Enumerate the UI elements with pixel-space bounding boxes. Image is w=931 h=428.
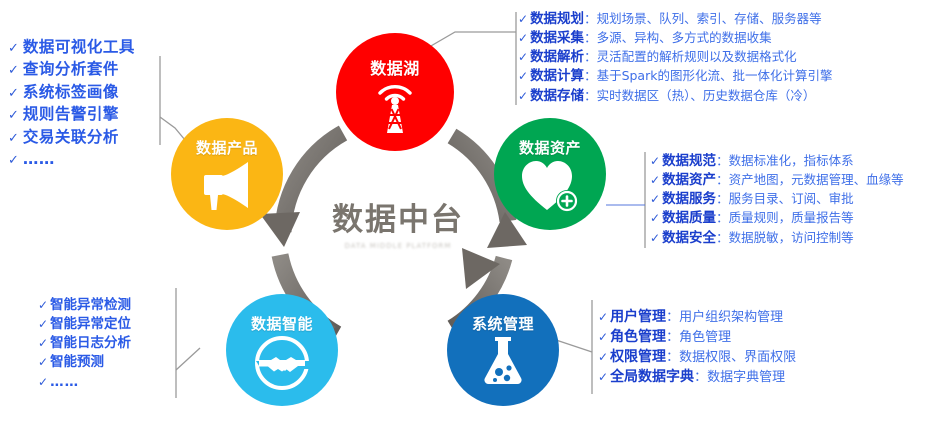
annotation-item: ✓查询分析套件 [8, 58, 135, 80]
annotation-term: 数据解析 [530, 48, 584, 67]
annotation-desc: ：数据脱敏，访问控制等 [716, 229, 854, 247]
annotation-item: ✓数据规划：规划场景、队列、索引、存储、服务器等 [518, 10, 832, 29]
annotation-item: ✓数据可视化工具 [8, 36, 135, 58]
node-data-asset-label: 数据资产 [519, 137, 581, 158]
check-icon: ✓ [650, 172, 660, 189]
check-icon: ✓ [38, 335, 48, 352]
annotation-item: ✓权限管理：数据权限、界面权限 [598, 348, 796, 368]
diagram-canvas: 数据中台 DATA MIDDLE PLATFORM 数据湖 [0, 0, 931, 428]
annotation-item: ✓智能异常定位 [38, 315, 131, 334]
check-icon: ✓ [598, 349, 608, 366]
check-icon: ✓ [518, 30, 528, 47]
heart-plus-icon [519, 158, 581, 214]
annotation-item: ✓智能日志分析 [38, 334, 131, 353]
annotation-block-data-product: ✓数据可视化工具✓查询分析套件✓系统标签画像✓规则告警引擎✓交易关联分析✓…… [8, 36, 135, 171]
annotation-term: 查询分析套件 [23, 58, 119, 80]
annotation-desc: ：实时数据区（热）、历史数据仓库（冷） [584, 87, 815, 105]
node-data-asset[interactable]: 数据资产 [494, 118, 606, 230]
annotation-term: 数据服务 [662, 190, 716, 209]
check-icon: ✓ [8, 40, 19, 58]
check-icon: ✓ [518, 68, 528, 85]
broadcast-tower-icon [368, 79, 422, 135]
check-icon: ✓ [38, 316, 48, 333]
annotation-term: 数据规划 [530, 10, 584, 29]
node-data-product[interactable]: 数据产品 [171, 118, 283, 230]
annotation-term: 数据存储 [530, 87, 584, 106]
annotation-item: ✓数据质量：质量规则，质量报告等 [650, 209, 904, 228]
annotation-term: 智能异常定位 [50, 315, 131, 334]
flask-icon [477, 334, 529, 388]
annotation-item: ✓数据规范：数据标准化，指标体系 [650, 152, 904, 171]
annotation-term: 数据计算 [530, 67, 584, 86]
annotation-term: 数据资产 [662, 171, 716, 190]
center-subtitle: DATA MIDDLE PLATFORM [300, 242, 496, 250]
annotation-item: ✓智能异常检测 [38, 296, 131, 315]
handshake-icon [253, 334, 311, 392]
annotation-desc: ：数据标准化，指标体系 [716, 152, 854, 170]
annotation-term: 规则告警引擎 [23, 103, 119, 125]
annotation-item: ✓规则告警引擎 [8, 103, 135, 125]
annotation-term: 角色管理 [610, 328, 666, 348]
check-icon: ✓ [518, 11, 528, 28]
check-icon: ✓ [38, 374, 48, 391]
node-system-management[interactable]: 系统管理 [447, 294, 559, 406]
node-data-lake[interactable]: 数据湖 [336, 33, 454, 151]
annotation-term: 系统标签画像 [23, 81, 119, 103]
annotation-block-data-intelligence: ✓智能异常检测✓智能异常定位✓智能日志分析✓智能预测✓…… [38, 296, 131, 392]
annotation-term: 全局数据字典 [610, 368, 694, 388]
check-icon: ✓ [8, 85, 19, 103]
annotation-item: ✓用户管理：用户组织架构管理 [598, 308, 796, 328]
annotation-block-data-asset: ✓数据规范：数据标准化，指标体系✓数据资产：资产地图，元数据管理、血缘等✓数据服… [650, 152, 904, 248]
check-icon: ✓ [38, 297, 48, 314]
annotation-term: 用户管理 [610, 308, 666, 328]
check-icon: ✓ [8, 152, 19, 170]
check-icon: ✓ [598, 329, 608, 346]
annotation-item: ✓数据解析：灵活配置的解析规则以及数据格式化 [518, 48, 832, 67]
annotation-term: 数据可视化工具 [23, 36, 135, 58]
annotation-block-system-management: ✓用户管理：用户组织架构管理✓角色管理：角色管理✓权限管理：数据权限、界面权限✓… [598, 308, 796, 388]
node-data-product-label: 数据产品 [196, 137, 258, 158]
annotation-term: 数据规范 [662, 152, 716, 171]
check-icon: ✓ [518, 88, 528, 105]
center-title: 数据中台 [300, 205, 496, 236]
annotation-item: ✓…… [8, 148, 135, 170]
annotation-item: ✓智能预测 [38, 353, 131, 372]
annotation-desc: ：资产地图，元数据管理、血缘等 [716, 171, 904, 189]
annotation-block-data-lake: ✓数据规划：规划场景、队列、索引、存储、服务器等✓数据采集：多源、异构、多方式的… [518, 10, 832, 106]
annotation-desc: ：基于Spark的图形化流、批一体化计算引擎 [584, 67, 832, 85]
check-icon: ✓ [518, 49, 528, 66]
annotation-item: ✓交易关联分析 [8, 126, 135, 148]
node-system-management-label: 系统管理 [472, 313, 534, 334]
annotation-item: ✓角色管理：角色管理 [598, 328, 796, 348]
annotation-term: 智能日志分析 [50, 334, 131, 353]
annotation-term: 权限管理 [610, 348, 666, 368]
annotation-item: ✓数据安全：数据脱敏，访问控制等 [650, 229, 904, 248]
check-icon: ✓ [38, 354, 48, 371]
annotation-item: ✓数据存储：实时数据区（热）、历史数据仓库（冷） [518, 87, 832, 106]
megaphone-icon [196, 158, 258, 212]
node-data-intelligence-label: 数据智能 [251, 313, 313, 334]
annotation-desc: ：质量规则，质量报告等 [716, 209, 854, 227]
center-caption: 数据中台 DATA MIDDLE PLATFORM [300, 205, 496, 250]
annotation-desc: ：角色管理 [666, 329, 731, 347]
annotation-item: ✓全局数据字典：数据字典管理 [598, 368, 796, 388]
annotation-item: ✓数据服务：服务目录、订阅、审批 [650, 190, 904, 209]
annotation-term: 智能异常检测 [50, 296, 131, 315]
annotation-item: ✓数据资产：资产地图，元数据管理、血缘等 [650, 171, 904, 190]
check-icon: ✓ [8, 107, 19, 125]
annotation-desc: ：多源、异构、多方式的数据收集 [584, 29, 772, 47]
check-icon: ✓ [650, 230, 660, 247]
check-icon: ✓ [8, 62, 19, 80]
annotation-desc: ：灵活配置的解析规则以及数据格式化 [584, 48, 797, 66]
annotation-term: 数据采集 [530, 29, 584, 48]
check-icon: ✓ [650, 191, 660, 208]
annotation-term: 数据安全 [662, 229, 716, 248]
annotation-term: 数据质量 [662, 209, 716, 228]
annotation-item: ✓…… [38, 373, 131, 392]
annotation-desc: ：用户组织架构管理 [666, 309, 783, 327]
annotation-desc: ：数据权限、界面权限 [666, 349, 796, 367]
annotation-desc: ：服务目录、订阅、审批 [716, 190, 854, 208]
check-icon: ✓ [650, 210, 660, 227]
annotation-desc: ：规划场景、队列、索引、存储、服务器等 [584, 10, 822, 28]
annotation-term: 交易关联分析 [23, 126, 119, 148]
annotation-term: 智能预测 [50, 353, 104, 372]
annotation-item: ✓系统标签画像 [8, 81, 135, 103]
node-data-intelligence[interactable]: 数据智能 [226, 294, 338, 406]
check-icon: ✓ [598, 369, 608, 386]
check-icon: ✓ [650, 153, 660, 170]
annotation-item: ✓数据采集：多源、异构、多方式的数据收集 [518, 29, 832, 48]
annotation-desc: ：数据字典管理 [694, 369, 785, 387]
node-data-lake-label: 数据湖 [370, 55, 420, 79]
check-icon: ✓ [598, 309, 608, 326]
annotation-term: …… [23, 148, 55, 170]
check-icon: ✓ [8, 130, 19, 148]
annotation-term: …… [50, 373, 79, 392]
annotation-item: ✓数据计算：基于Spark的图形化流、批一体化计算引擎 [518, 67, 832, 86]
